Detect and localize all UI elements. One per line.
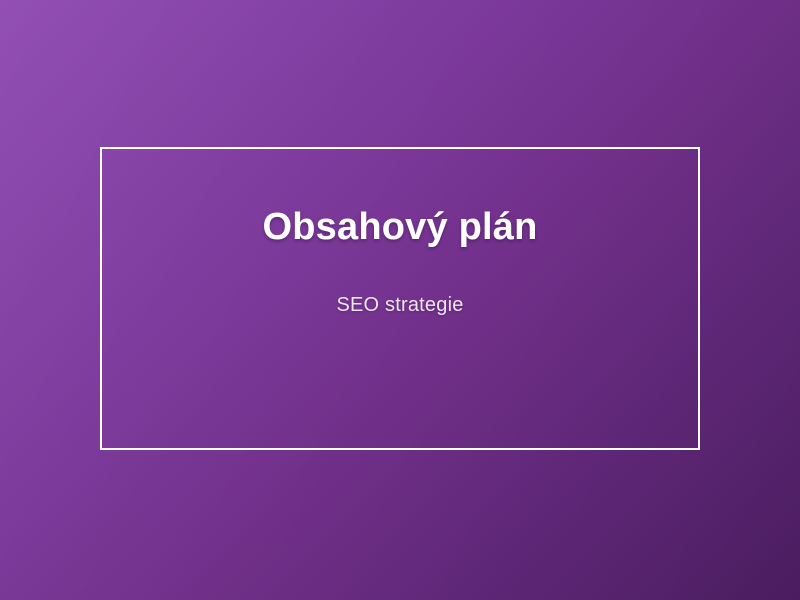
slide-text-stack: Obsahový plán SEO strategie bbox=[102, 149, 698, 448]
slide-content-frame: Obsahový plán SEO strategie bbox=[100, 147, 700, 450]
slide-title: Obsahový plán bbox=[262, 207, 537, 249]
presentation-slide: Obsahový plán SEO strategie bbox=[0, 0, 800, 600]
slide-subtitle: SEO strategie bbox=[336, 293, 463, 317]
